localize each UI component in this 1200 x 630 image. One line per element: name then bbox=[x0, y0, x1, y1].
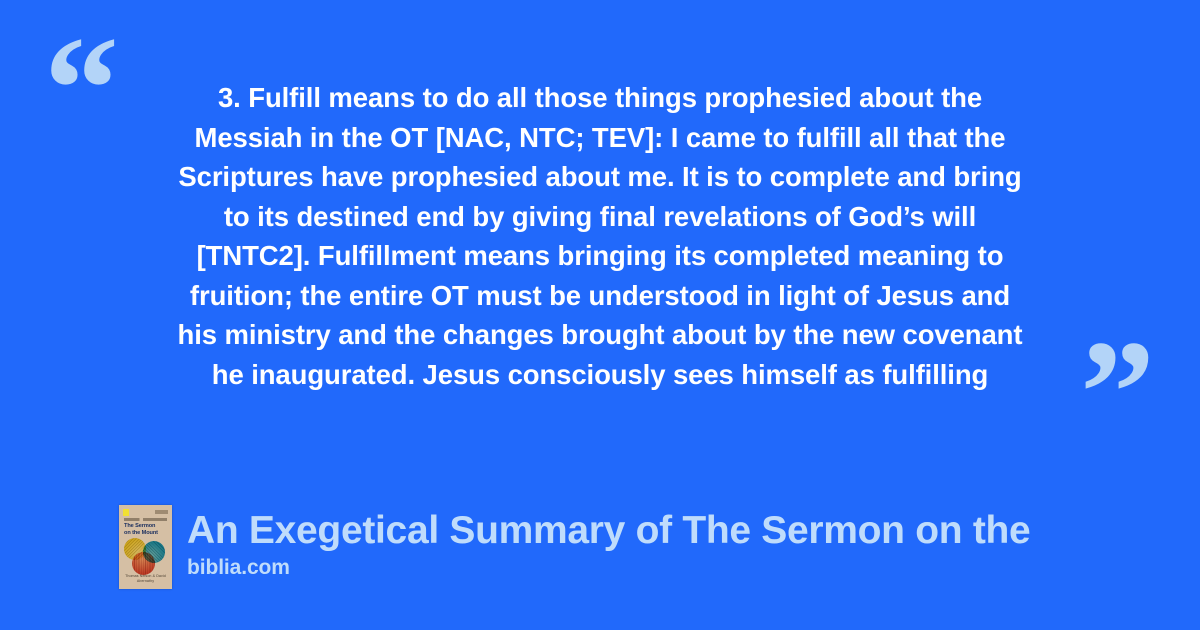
quote-line: 3. Fulfill means to do all those things … bbox=[110, 78, 1090, 118]
quote-line: to its destined end by giving final reve… bbox=[110, 197, 1090, 237]
open-quote-icon: “ bbox=[44, 14, 117, 164]
red-circle-icon bbox=[132, 552, 155, 575]
book-title: An Exegetical Summary of The Sermon on t… bbox=[187, 509, 1030, 553]
footer: The Sermon on the Mount Thomas Nelson & … bbox=[119, 505, 1030, 589]
book-cover-thumbnail: The Sermon on the Mount Thomas Nelson & … bbox=[119, 505, 172, 589]
quote-line: Messiah in the OT [NAC, NTC; TEV]: I cam… bbox=[110, 118, 1090, 158]
book-cover-yellow-tab bbox=[123, 509, 129, 516]
book-cover-artwork bbox=[123, 538, 168, 576]
book-cover-title-line: The Sermon bbox=[124, 523, 167, 530]
quote-card: “ 3. Fulfill means to do all those thing… bbox=[0, 0, 1200, 630]
quote-line: his ministry and the changes brought abo… bbox=[110, 315, 1090, 355]
book-cover-title: The Sermon on the Mount bbox=[124, 523, 167, 537]
quote-line: he inaugurated. Jesus consciously sees h… bbox=[110, 355, 1090, 395]
quote-line: fruition; the entire OT must be understo… bbox=[110, 276, 1090, 316]
quote-text-block: 3. Fulfill means to do all those things … bbox=[110, 78, 1090, 394]
close-quote-icon: ” bbox=[1080, 318, 1153, 468]
footer-text-block: An Exegetical Summary of The Sermon on t… bbox=[187, 505, 1030, 581]
quote-line: Scriptures have prophesied about me. It … bbox=[110, 157, 1090, 197]
site-name: biblia.com bbox=[187, 555, 1030, 581]
book-cover-author: Thomas Nelson & David Abernathy bbox=[124, 574, 167, 584]
book-cover-series-label bbox=[124, 518, 167, 521]
quote-line: [TNTC2]. Fulfillment means bringing its … bbox=[110, 236, 1090, 276]
book-cover-publisher-mark bbox=[155, 510, 168, 514]
book-cover-title-line: on the Mount bbox=[124, 530, 167, 537]
